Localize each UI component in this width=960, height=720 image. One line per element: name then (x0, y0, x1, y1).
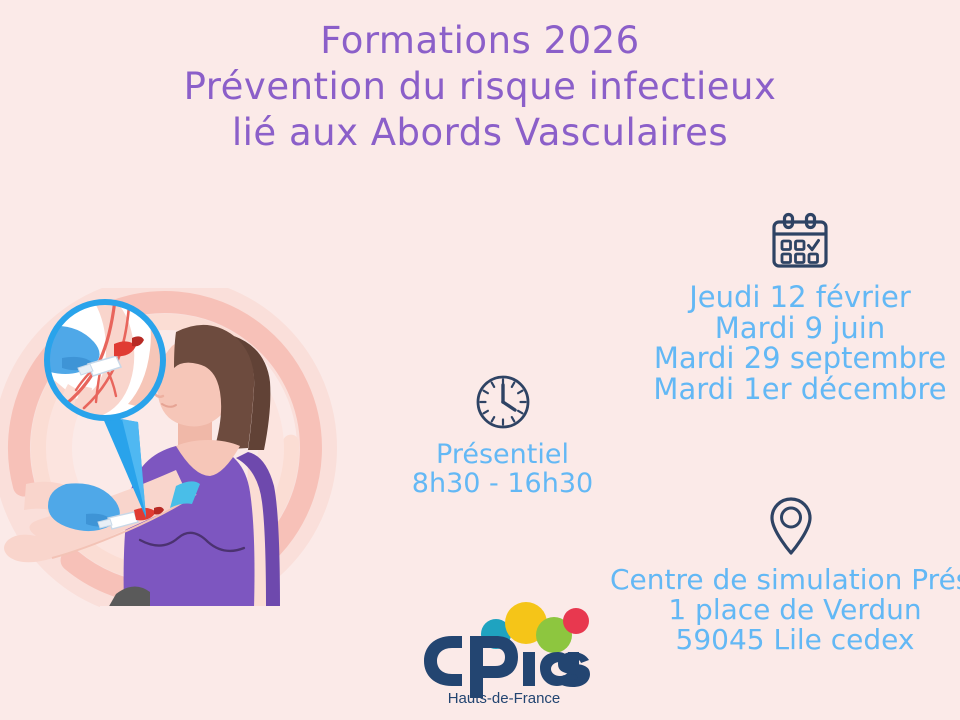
location-block: Centre de simulation Présag 1 place de V… (600, 495, 960, 656)
schedule-text: Présentiel 8h30 - 16h30 (390, 440, 615, 498)
title-line-1: Formations 2026 (0, 22, 960, 68)
schedule-hours: 8h30 - 16h30 (390, 469, 615, 498)
date-item-2: Mardi 9 juin (640, 313, 960, 344)
poster-canvas: Formations 2026 Prévention du risque inf… (0, 0, 960, 720)
schedule-mode: Présentiel (390, 440, 615, 469)
date-item-4: Mardi 1er décembre (640, 374, 960, 405)
map-pin-icon (600, 495, 960, 565)
title-line-3: lié aux Abords Vasculaires (0, 114, 960, 151)
clock-icon (390, 372, 615, 440)
schedule-block: Présentiel 8h30 - 16h30 (390, 372, 615, 498)
location-venue: Centre de simulation Présag (600, 565, 960, 595)
logo-subtitle: Hauts-de-France (448, 690, 561, 707)
dates-block: Jeudi 12 février Mardi 9 juin Mardi 29 s… (640, 212, 960, 405)
vascular-access-illustration (0, 288, 380, 628)
date-item-3: Mardi 29 septembre (640, 343, 960, 374)
location-city: 59045 Lile cedex (600, 625, 960, 655)
dates-list: Jeudi 12 février Mardi 9 juin Mardi 29 s… (640, 282, 960, 405)
cpias-logo: Hauts-de-France (418, 602, 598, 707)
date-item-1: Jeudi 12 février (640, 282, 960, 313)
calendar-icon (640, 212, 960, 282)
location-text: Centre de simulation Présag 1 place de V… (600, 565, 960, 656)
poster-title: Formations 2026 Prévention du risque inf… (0, 22, 960, 151)
title-line-2: Prévention du risque infectieux (0, 68, 960, 114)
location-street: 1 place de Verdun (600, 595, 960, 625)
